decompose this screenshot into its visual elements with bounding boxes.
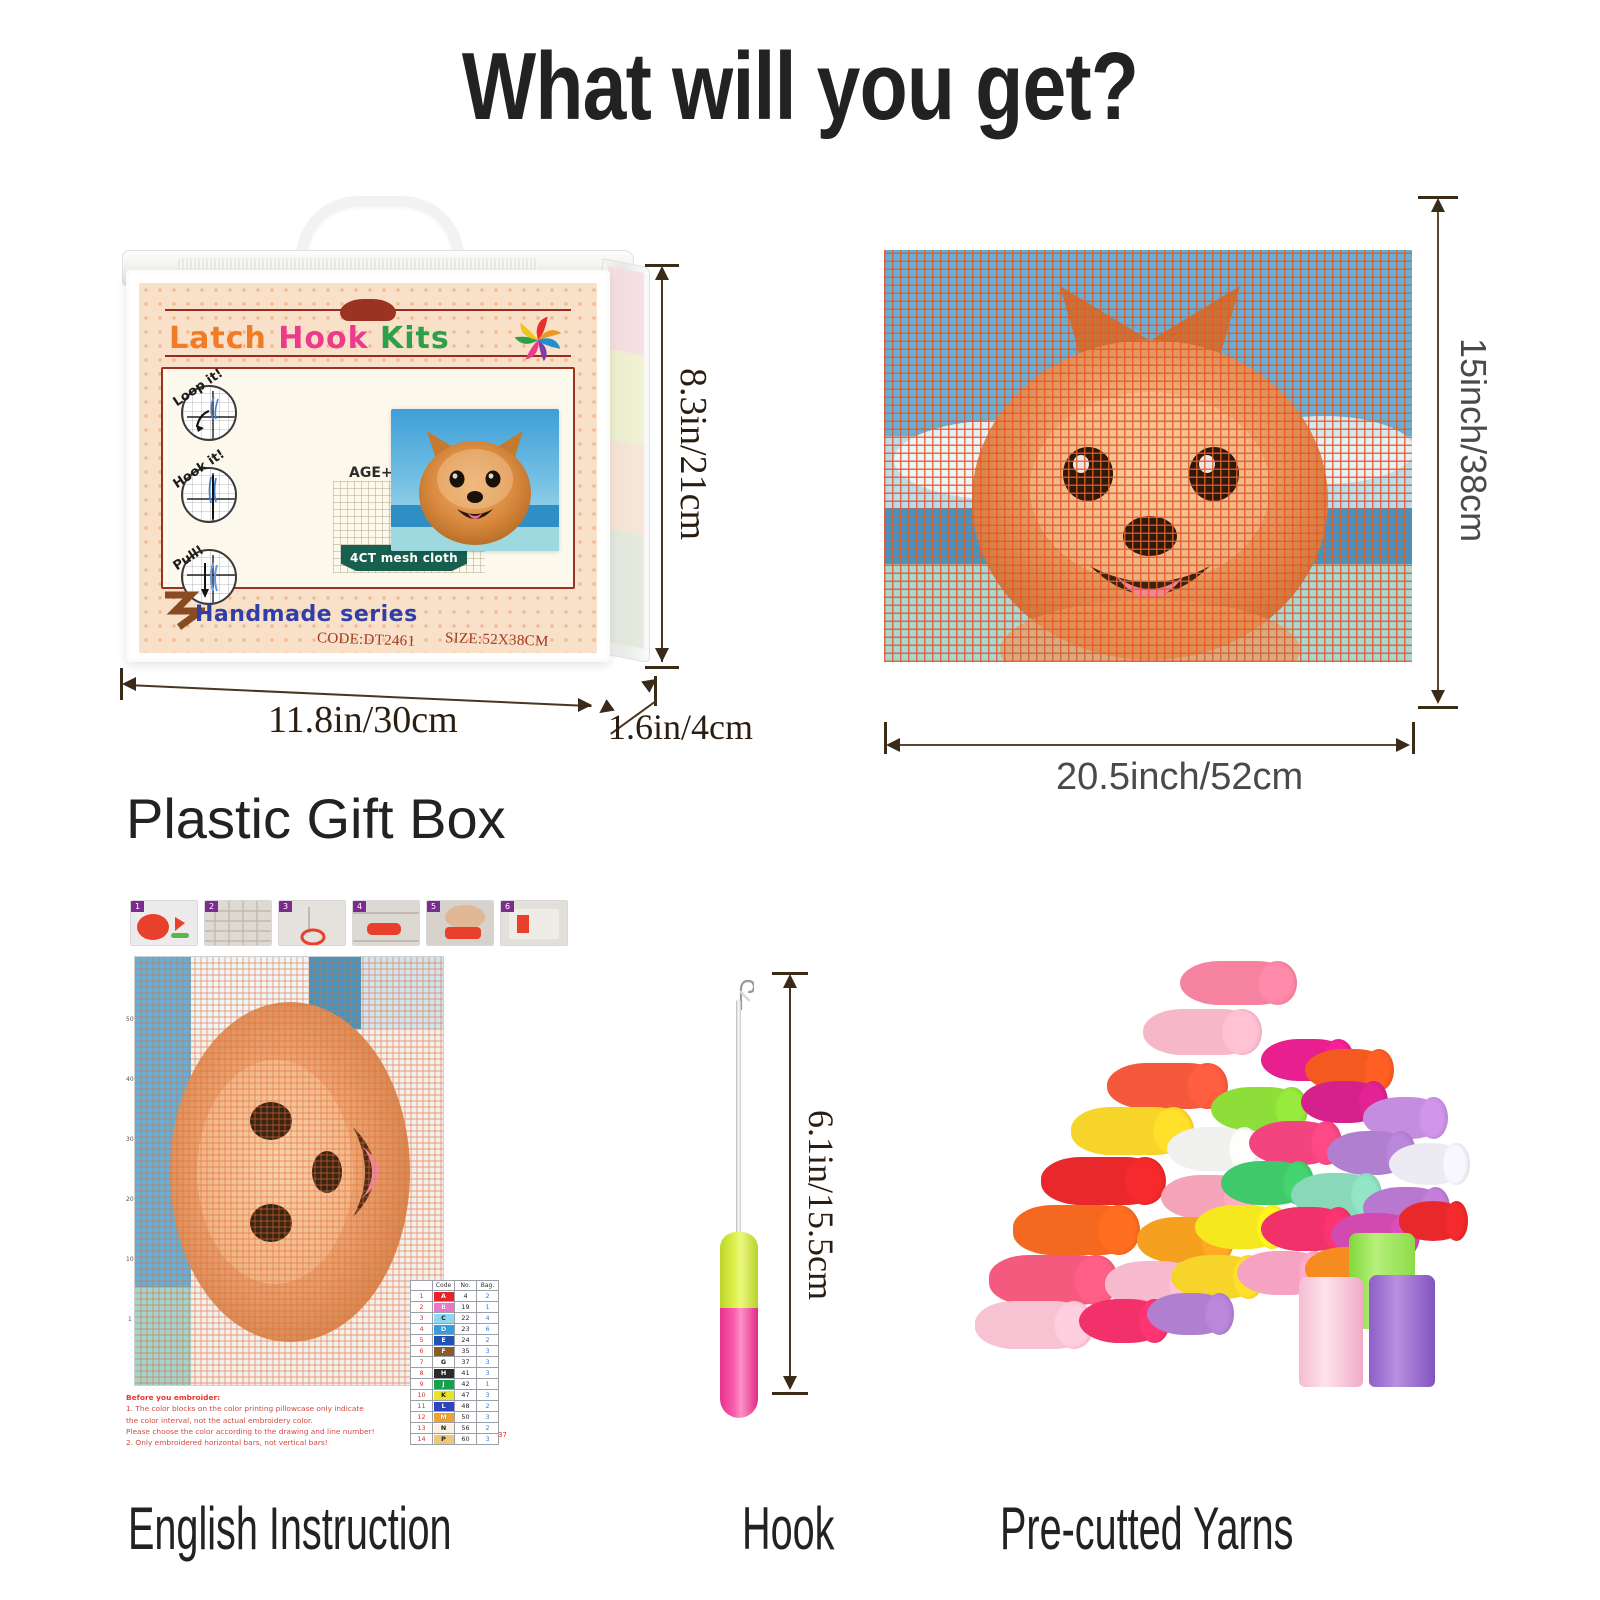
page-title: What will you get? — [144, 32, 1456, 142]
yarn-piece — [975, 1301, 1093, 1349]
yarn-bundle-standing — [1369, 1275, 1435, 1387]
tutorial-thumbnail-strip: 1 2 3 — [130, 900, 582, 948]
tutorial-thumbnail: 2 — [204, 900, 272, 946]
cell-number: 41 — [455, 1368, 477, 1379]
cell-bag-count: 3 — [477, 1368, 499, 1379]
yarn-piece — [1147, 1293, 1233, 1335]
table-row: 3C224 — [411, 1313, 499, 1324]
notes-line-3: Please choose the color according to the… — [126, 1426, 426, 1437]
color-table-total: 37 — [498, 1431, 507, 1439]
cell-color-code: E — [433, 1335, 455, 1346]
cell-color-code: N — [433, 1423, 455, 1434]
hook-grip-lower — [720, 1308, 758, 1418]
product-size: SIZE:52X38CM — [445, 630, 549, 651]
cell-bag-count: 2 — [477, 1291, 499, 1302]
yarn-piece — [989, 1255, 1117, 1305]
cell-color-code: H — [433, 1368, 455, 1379]
cell-index: 2 — [411, 1302, 433, 1313]
box-height-label: 8.3in/21cm — [671, 368, 715, 540]
table-row: 1A42 — [411, 1291, 499, 1302]
cell-color-code: P — [433, 1434, 455, 1445]
cell-color-code: A — [433, 1291, 455, 1302]
instruction-sheet: 1 2 3 — [124, 900, 584, 1480]
cell-color-code: F — [433, 1346, 455, 1357]
cell-bag-count: 3 — [477, 1357, 499, 1368]
table-header-code: Code — [433, 1281, 455, 1291]
cell-bag-count: 1 — [477, 1302, 499, 1313]
cell-index: 9 — [411, 1379, 433, 1390]
thumbnail-number: 5 — [427, 901, 440, 912]
color-chip: A — [434, 1292, 454, 1301]
yarn-bundle-standing — [1299, 1277, 1363, 1387]
cell-color-code: M — [433, 1412, 455, 1423]
caption-hook: Hook — [742, 1494, 834, 1563]
caption-precut-yarns: Pre-cutted Yarns — [1000, 1494, 1293, 1563]
pixel-chart — [134, 956, 444, 1386]
cell-number: 4 — [455, 1291, 477, 1302]
series-text: Handmade series — [195, 602, 418, 627]
cell-number: 37 — [455, 1357, 477, 1368]
instruction-notes: Before you embroider: 1. The color block… — [126, 1392, 426, 1448]
cell-bag-count: 2 — [477, 1401, 499, 1412]
cell-number: 42 — [455, 1379, 477, 1390]
cell-number: 48 — [455, 1401, 477, 1412]
tutorial-thumbnail: 4 — [352, 900, 420, 946]
color-chip: G — [434, 1358, 454, 1367]
table-row: 4D236 — [411, 1324, 499, 1335]
table-row: 8H413 — [411, 1368, 499, 1379]
color-chip: H — [434, 1369, 454, 1378]
yarn-piece — [1180, 961, 1296, 1005]
hook-shaft — [736, 1000, 741, 1242]
cell-color-code: L — [433, 1401, 455, 1412]
hook-tip-icon — [728, 976, 754, 1010]
thumbnail-number: 3 — [279, 901, 292, 912]
caption-english-instruction: English Instruction — [128, 1494, 452, 1563]
cell-index: 4 — [411, 1324, 433, 1335]
color-chip: M — [434, 1413, 454, 1422]
cell-number: 50 — [455, 1412, 477, 1423]
yarn-piece — [1249, 1121, 1341, 1165]
canvas-height-label: 15inch/38cm — [1452, 338, 1494, 542]
color-chip: B — [434, 1303, 454, 1312]
box-depth-label: 1.6in/4cm — [608, 706, 753, 748]
pixel-chart-artwork — [135, 957, 444, 1386]
thumbnail-number: 2 — [205, 901, 218, 912]
box-handle — [296, 196, 464, 258]
box-width-label: 11.8in/30cm — [268, 698, 458, 742]
tutorial-thumbnail: 1 — [130, 900, 198, 946]
cell-number: 24 — [455, 1335, 477, 1346]
cell-number: 47 — [455, 1390, 477, 1401]
color-chip: D — [434, 1325, 454, 1334]
notes-title: Before you embroider: — [126, 1392, 426, 1403]
brand-word-latch: Latch — [169, 321, 267, 356]
cell-color-code: G — [433, 1357, 455, 1368]
table-header-index — [411, 1281, 433, 1291]
cell-color-code: B — [433, 1302, 455, 1313]
cell-number: 23 — [455, 1324, 477, 1335]
cell-bag-count: 4 — [477, 1313, 499, 1324]
product-code: CODE:DT2461 — [317, 630, 416, 650]
chart-ruler: 50 40 30 20 10 1 — [124, 956, 136, 1386]
cell-bag-count: 3 — [477, 1346, 499, 1357]
brand-word-kits: Kits — [380, 321, 450, 356]
cell-number: 22 — [455, 1313, 477, 1324]
color-chip: K — [434, 1391, 454, 1400]
yarn-piece — [1013, 1205, 1139, 1255]
cell-bag-count: 1 — [477, 1379, 499, 1390]
notes-line-2: the color interval, not the actual embro… — [126, 1415, 426, 1426]
tutorial-thumbnail: 5 — [426, 900, 494, 946]
gift-box-illustration: Latch Hook Kits — [118, 196, 658, 696]
cell-color-code: D — [433, 1324, 455, 1335]
tutorial-thumbnail: 6 — [500, 900, 568, 946]
table-row: 2B191 — [411, 1302, 499, 1313]
cell-index: 8 — [411, 1368, 433, 1379]
tutorial-thumbnail: 3 — [278, 900, 346, 946]
table-row: 5E242 — [411, 1335, 499, 1346]
hook-length-label: 6.1in/15.5cm — [800, 1110, 842, 1300]
brand-word-hook: Hook — [278, 321, 368, 356]
canvas-artwork — [884, 250, 1412, 662]
table-header-no: No. — [455, 1281, 477, 1291]
cell-color-code: C — [433, 1313, 455, 1324]
box-product-photo — [391, 409, 559, 551]
box-front-face: Latch Hook Kits — [126, 270, 610, 662]
cell-number: 60 — [455, 1434, 477, 1445]
pinwheel-logo-icon — [509, 311, 567, 369]
cell-bag-count: 6 — [477, 1324, 499, 1335]
color-chip: N — [434, 1424, 454, 1433]
cell-index: 7 — [411, 1357, 433, 1368]
yarn-piece — [1107, 1063, 1227, 1109]
cell-bag-count: 3 — [477, 1390, 499, 1401]
table-row: 9J421 — [411, 1379, 499, 1390]
box-contents-stack — [608, 266, 644, 649]
color-chip: E — [434, 1336, 454, 1345]
color-chip: P — [434, 1435, 454, 1444]
infographic-stage: What will you get? Latch Hook Kits — [0, 0, 1600, 1600]
cell-index: 3 — [411, 1313, 433, 1324]
cell-bag-count: 2 — [477, 1423, 499, 1434]
notes-line-4: 2. Only embroidered horizontal bars, not… — [126, 1437, 426, 1448]
cell-number: 35 — [455, 1346, 477, 1357]
color-chip: L — [434, 1402, 454, 1411]
yarn-piece — [1041, 1157, 1165, 1205]
color-chip: J — [434, 1380, 454, 1389]
cell-number: 19 — [455, 1302, 477, 1313]
cell-index: 5 — [411, 1335, 433, 1346]
precut-yarn-pile — [975, 955, 1470, 1435]
color-chip: C — [434, 1314, 454, 1323]
printed-mesh-canvas — [884, 250, 1412, 662]
yarn-piece — [1389, 1143, 1469, 1185]
color-chip: F — [434, 1347, 454, 1356]
table-header-bag: Bag. — [477, 1281, 499, 1291]
notes-line-1: 1. The color blocks on the color printin… — [126, 1403, 426, 1414]
brand-wordmark: Latch Hook Kits — [169, 321, 450, 356]
thumbnail-number: 6 — [501, 901, 514, 912]
caption-plastic-gift-box: Plastic Gift Box — [126, 786, 506, 851]
table-row: 7G373 — [411, 1357, 499, 1368]
yarn-piece — [1143, 1009, 1261, 1055]
cell-index: 6 — [411, 1346, 433, 1357]
cell-bag-count: 3 — [477, 1412, 499, 1423]
cell-index: 1 — [411, 1291, 433, 1302]
box-printed-label: Latch Hook Kits — [139, 283, 597, 653]
table-header-row: Code No. Bag. — [411, 1281, 499, 1291]
cell-color-code: K — [433, 1390, 455, 1401]
cell-bag-count: 2 — [477, 1335, 499, 1346]
box-instruction-panel: Loop it! Hook it! — [161, 367, 575, 589]
cell-number: 56 — [455, 1423, 477, 1434]
cell-bag-count: 3 — [477, 1434, 499, 1445]
canvas-width-label: 20.5inch/52cm — [1056, 756, 1303, 799]
thumbnail-number: 1 — [131, 901, 144, 912]
hook-grip-upper — [720, 1232, 758, 1310]
cell-color-code: J — [433, 1379, 455, 1390]
thumbnail-number: 4 — [353, 901, 366, 912]
table-row: 6F353 — [411, 1346, 499, 1357]
label-badge — [340, 299, 396, 321]
